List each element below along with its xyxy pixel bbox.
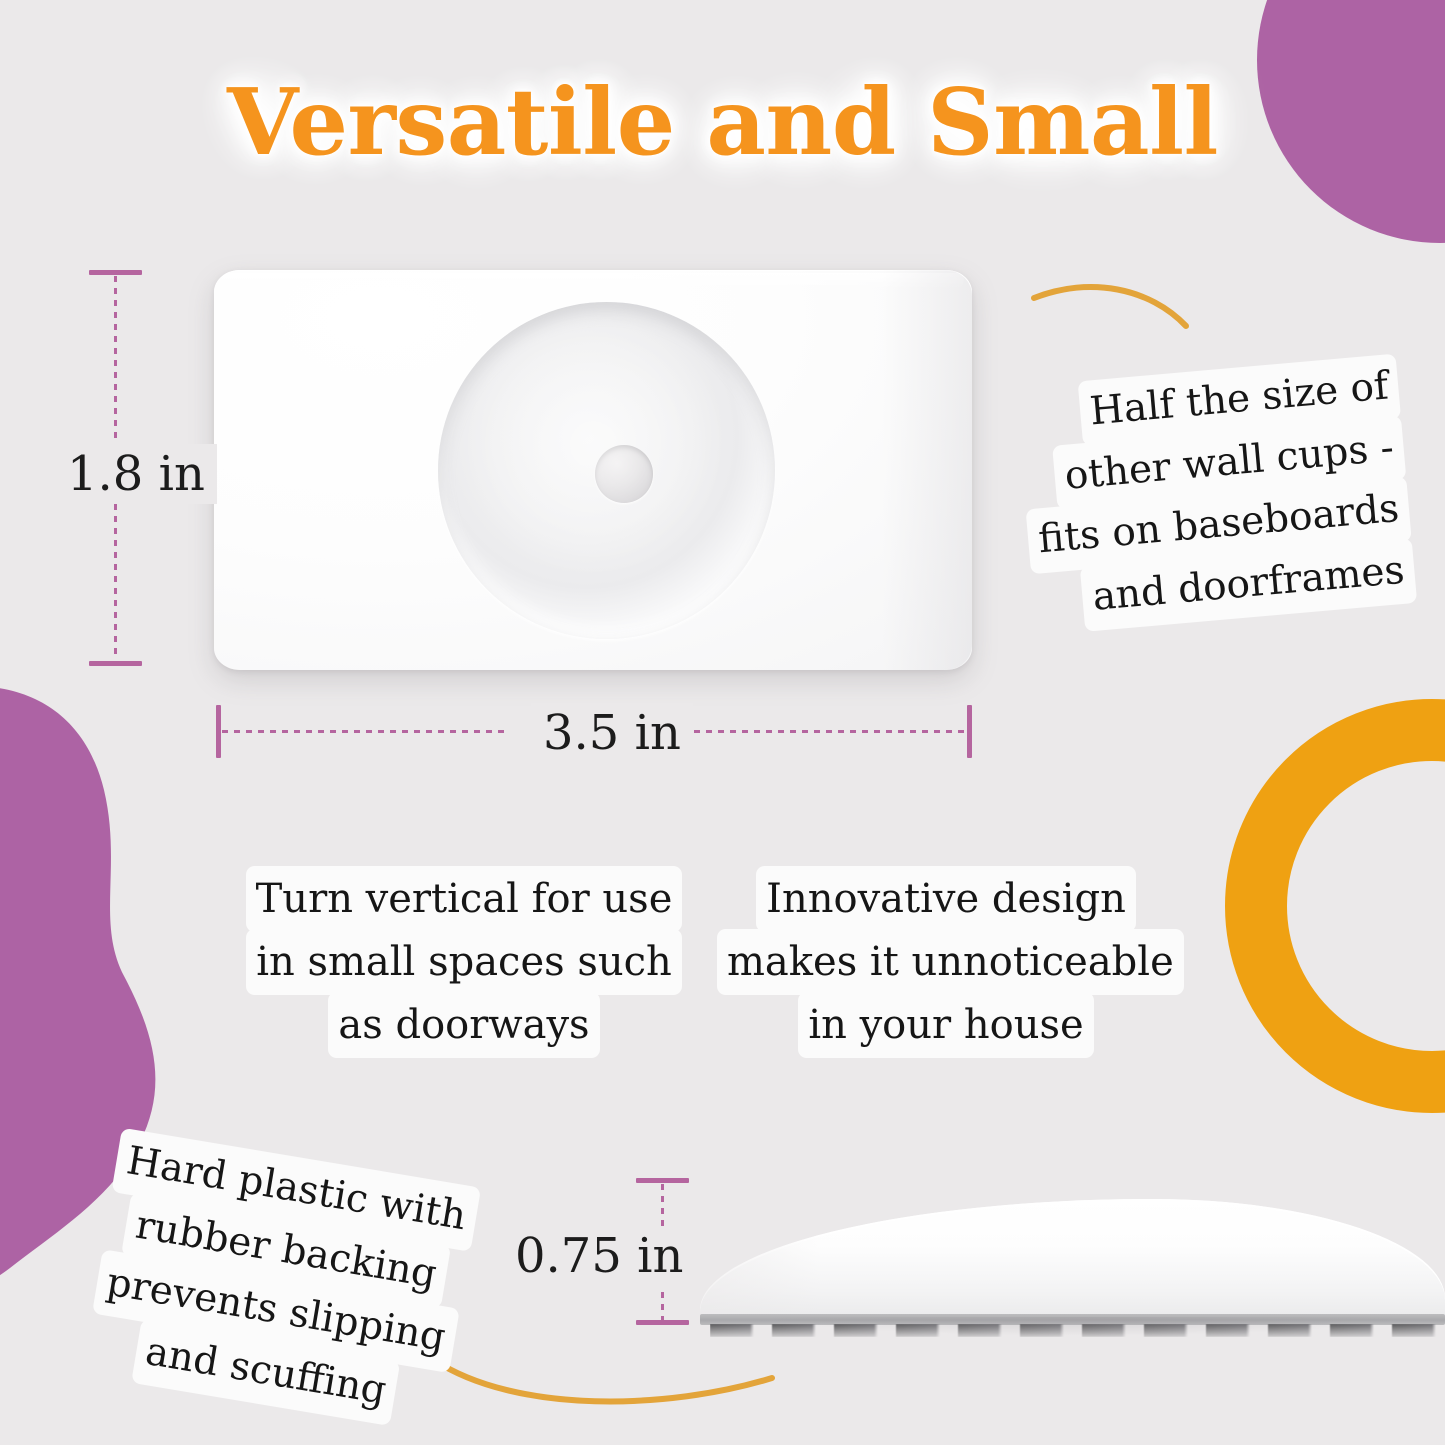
dimension-thickness-cap-bottom — [636, 1320, 689, 1325]
dimension-width-line-left — [222, 730, 510, 733]
dimension-height-cap-top — [89, 270, 142, 275]
callout-innovative-design: Innovative design makes it unnoticeable … — [724, 862, 1168, 1062]
title-container: Versatile and Small — [0, 60, 1445, 191]
wall-cup-side-shadow — [720, 1317, 1445, 1343]
dimension-thickness-cap-top — [636, 1178, 689, 1183]
dimension-thickness-label: 0.75 in — [503, 1226, 695, 1286]
wall-cup-side-taper — [700, 1199, 820, 1317]
infographic-canvas: Versatile and Small 1.8 in 3.5 in 0.75 i… — [0, 0, 1445, 1445]
callout-hard-plastic: Hard plastic with rubber backing prevent… — [77, 1123, 484, 1438]
dimension-height-cap-bottom — [89, 661, 142, 666]
orange-ring — [1256, 730, 1445, 1082]
dimension-height-label: 1.8 in — [55, 444, 217, 504]
wall-cup-side-view — [700, 1185, 1445, 1345]
callout-line: Turn vertical for use — [253, 873, 676, 925]
dimension-width-label: 3.5 in — [531, 703, 693, 763]
wall-cup-recessed-dish — [438, 302, 775, 639]
dimension-height-line-lower — [114, 492, 117, 660]
wall-cup-screw-hole — [595, 445, 653, 503]
gold-arc-top — [1034, 287, 1186, 326]
dimension-height-line-upper — [114, 276, 117, 446]
gold-arc-bottom — [434, 1360, 772, 1401]
callout-line: Innovative design — [763, 873, 1129, 925]
callout-line: in your house — [805, 999, 1086, 1051]
dimension-width-line-right — [682, 730, 968, 733]
callout-line: in small spaces such — [253, 936, 675, 988]
page-title: Versatile and Small — [193, 60, 1252, 191]
callout-line: as doorways — [335, 999, 592, 1051]
callout-turn-vertical: Turn vertical for use in small spaces su… — [248, 862, 680, 1062]
dimension-width-cap-right — [967, 705, 972, 758]
dimension-width-cap-left — [216, 705, 221, 758]
callout-line: makes it unnoticeable — [724, 936, 1177, 988]
callout-half-the-size: Half the size of other wall cups - fits … — [1017, 350, 1410, 639]
wall-cup-top-view — [214, 270, 972, 670]
